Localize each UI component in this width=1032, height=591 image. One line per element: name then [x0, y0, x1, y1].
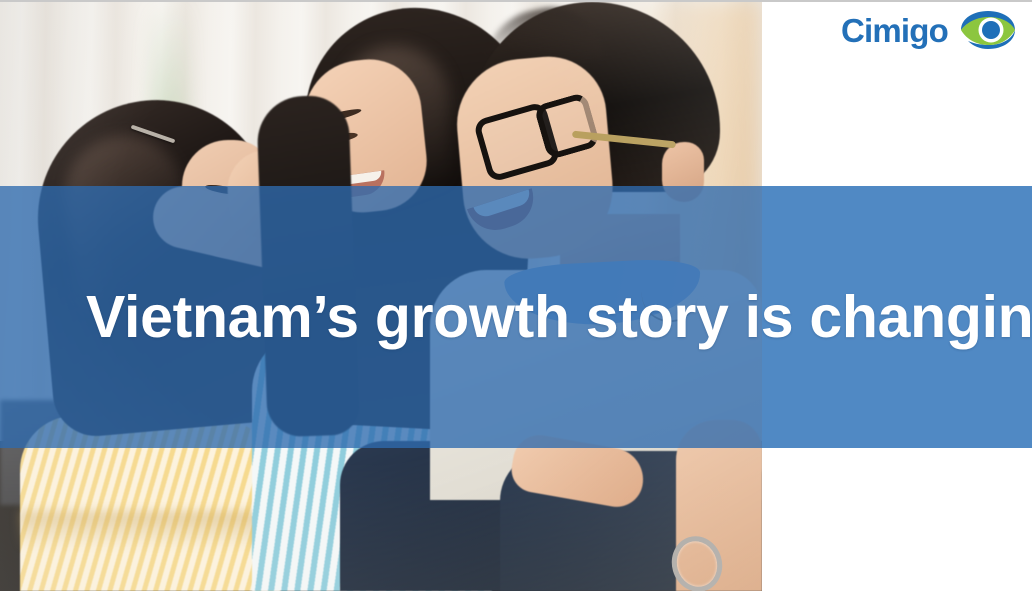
top-divider [0, 0, 1032, 2]
cimigo-logo[interactable]: Cimigo [841, 10, 1016, 50]
cimigo-wordmark: Cimigo [841, 14, 948, 47]
page-title: Vietnam’s growth story is changing [86, 186, 1032, 448]
slide: Vietnam’s growth story is changing Cimig… [0, 0, 1032, 591]
title-band: Vietnam’s growth story is changing [0, 186, 1032, 448]
girl-shirt-fold [20, 511, 280, 549]
cimigo-eye-logo-icon [960, 10, 1016, 50]
